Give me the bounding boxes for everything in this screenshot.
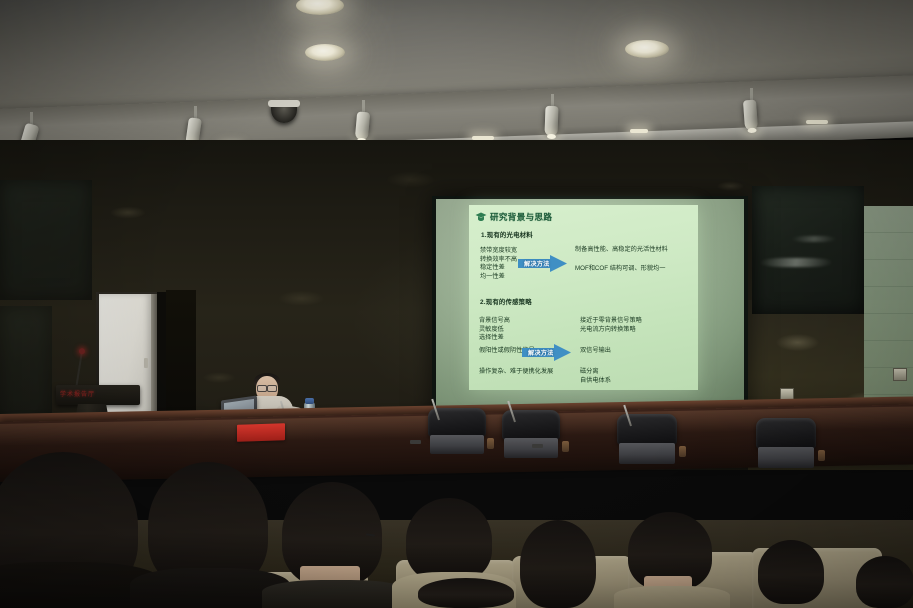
problem-item: 均一性差 [480, 273, 517, 282]
chair-armrest [562, 441, 569, 452]
problem-item: 背景信号高 [479, 317, 510, 326]
solution-arrow-2: 解决方法 [522, 344, 571, 361]
solution-item: 磁分离 [580, 368, 611, 377]
problem-item: 灵敏度低 [479, 326, 510, 335]
chair-seat [619, 443, 674, 464]
glass-reflection [760, 258, 832, 267]
slide-section-2-heading: 2.现有的传感策略 [480, 297, 532, 306]
audience-member [520, 520, 596, 608]
audience-member [406, 498, 492, 582]
solution-arrow-1: 解决方法 [518, 255, 567, 272]
problem-item: 禁带宽度较宽 [480, 247, 517, 256]
recessed-downlight [625, 40, 669, 58]
ceiling-cove-light [806, 120, 828, 124]
solution-arrow-1-label: 解决方法 [518, 259, 550, 268]
dark-glass-panel [0, 306, 52, 426]
recessed-downlight [305, 44, 345, 61]
red-folder [237, 423, 285, 442]
problem-item: 转换效率不高 [480, 256, 517, 265]
solution-item: 自供电体系 [580, 377, 611, 386]
solution-item: MOF和COF 结构可调、形貌均一 [575, 265, 668, 274]
ceiling-cove-light [630, 129, 648, 133]
slide-section-2-problems-c: 操作复杂、难于便携化发展 [479, 368, 553, 377]
green-panel-seams [864, 206, 913, 412]
slide-section-1-solutions: 制备高性能、高稳定的光活性材料 MOF和COF 结构可调、形貌均一 [575, 246, 668, 273]
chair-backrest [617, 414, 677, 445]
solution-item: 制备高性能、高稳定的光活性材料 [575, 246, 668, 255]
executive-chair [617, 414, 677, 466]
projected-slide: 研究背景与思路 1.现有的光电材料 禁带宽度较宽 转换效率不高 稳定性差 均一性… [469, 205, 698, 390]
dark-glass-panel [0, 180, 92, 300]
problem-item: 稳定性差 [480, 264, 517, 273]
chair-armrest [487, 438, 494, 449]
lectern-text: 学术报告厅 [60, 389, 132, 398]
solution-item: 接近于零背景信号策略 [580, 317, 642, 326]
problem-item: 选择性差 [479, 334, 510, 343]
slide-section-1-problems: 禁带宽度较宽 转换效率不高 稳定性差 均一性差 [480, 247, 517, 281]
door-handle[interactable] [144, 358, 148, 368]
solution-item: 光电流方向转换策略 [580, 326, 642, 335]
solution-arrow-2-label: 解决方法 [522, 348, 554, 357]
track-spotlight [743, 100, 758, 131]
chair-seat [758, 447, 813, 468]
slide-section-2-solutions-c: 磁分离 自供电体系 [580, 368, 611, 385]
solution-item: 双信号输出 [580, 347, 611, 356]
wall-socket[interactable] [893, 368, 907, 381]
microphone-base [410, 440, 421, 444]
bottle-cap [305, 398, 314, 404]
slide-section-2-solutions-a: 接近于零背景信号策略 光电流方向转换策略 [580, 317, 642, 334]
slide-section-2-problems-a: 背景信号高 灵敏度低 选择性差 [479, 317, 510, 343]
executive-chair [502, 410, 560, 460]
audience-member [418, 578, 514, 608]
microphone-base [532, 444, 543, 448]
graduation-cap-icon [475, 212, 487, 222]
glass-reflection [792, 236, 836, 242]
chair-backrest [756, 418, 816, 449]
problem-item: 操作复杂、难于便携化发展 [479, 368, 553, 377]
audience-member [856, 556, 913, 608]
executive-chair [756, 418, 816, 470]
lecture-hall-screenshot: 学术报告厅 研究背景与思路 1.现有的光电材料 禁带宽度较宽 转换效率不高 [0, 0, 913, 608]
audience-member [758, 540, 824, 604]
chair-seat [430, 435, 483, 454]
chair-seat [504, 438, 557, 458]
dark-glass-panel [752, 186, 864, 314]
slide-title-row: 研究背景与思路 [475, 211, 552, 223]
chair-armrest [679, 446, 686, 457]
slide-section-2-solutions-b: 双信号输出 [580, 347, 611, 356]
audience-shoulders [614, 586, 730, 608]
track-spotlight [544, 106, 558, 136]
slide-title: 研究背景与思路 [490, 211, 552, 223]
presenter-glasses [257, 385, 277, 390]
chair-armrest [818, 450, 825, 461]
slide-section-1-heading: 1.现有的光电材料 [481, 230, 533, 239]
audience-shoulders [262, 580, 410, 608]
